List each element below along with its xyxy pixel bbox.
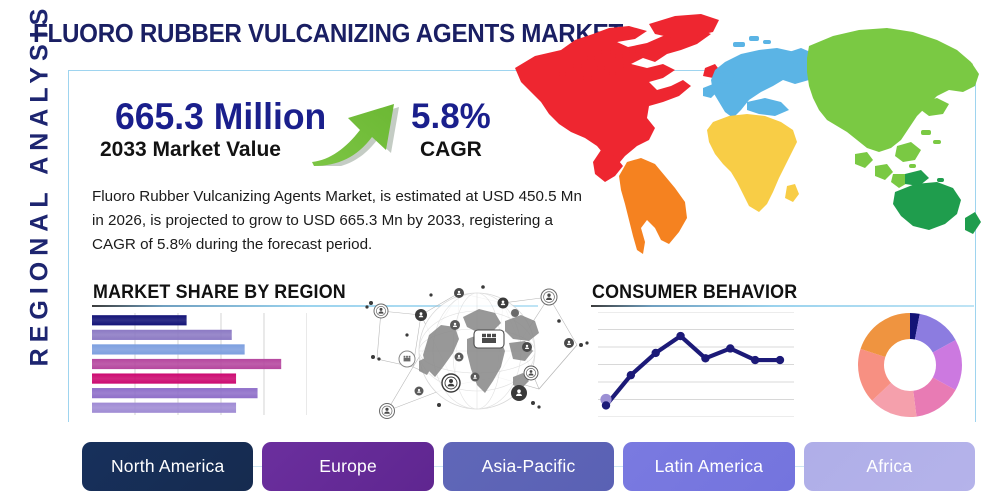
bar-chart-bar — [92, 388, 258, 398]
consumer-behavior-line-chart — [598, 312, 794, 417]
line-chart-title: CONSUMER BEHAVIOR — [592, 282, 797, 304]
line-chart-point — [701, 354, 709, 362]
region-pill[interactable]: Asia-Pacific — [443, 442, 614, 491]
region-pill[interactable]: Latin America — [623, 442, 794, 491]
line-chart-point — [602, 401, 610, 409]
region-pill[interactable]: Europe — [262, 442, 433, 491]
pill-connector — [253, 466, 262, 468]
global-network-globe-icon — [363, 281, 591, 419]
bar-chart-bar — [92, 344, 245, 354]
line-chart-point — [627, 371, 635, 379]
regional-analysis-side-label: REGIONAL ANALYSIS — [26, 0, 55, 385]
line-chart-point — [652, 349, 660, 357]
line-chart-point — [751, 356, 759, 364]
line-chart-point — [726, 344, 734, 352]
cagr-label: CAGR — [420, 138, 482, 162]
segment-donut-chart — [856, 311, 964, 419]
region-pill[interactable]: North America — [82, 442, 253, 491]
bar-chart-bar — [92, 330, 232, 340]
region-pill[interactable]: Africa — [804, 442, 975, 491]
donut-segment — [861, 313, 910, 357]
cagr-figure: 5.8% — [411, 97, 491, 137]
market-value-figure: 665.3 Million — [115, 96, 326, 138]
bar-chart-title: MARKET SHARE BY REGION — [93, 282, 346, 304]
bar-chart-bar — [92, 359, 281, 369]
line-chart-point — [676, 332, 684, 340]
growth-arrow-icon — [308, 78, 408, 166]
world-map-icon — [497, 6, 992, 274]
line-chart-title-rule — [591, 305, 974, 307]
infographic-canvas: REGIONAL ANALYSIS FLUORO RUBBER VULCANIZ… — [0, 0, 1000, 500]
pill-connector — [614, 466, 623, 468]
bar-chart-bar — [92, 403, 236, 413]
pill-connector — [795, 466, 804, 468]
line-chart-point — [776, 356, 784, 364]
pill-connector — [434, 466, 443, 468]
market-value-label: 2033 Market Value — [100, 138, 281, 162]
bar-chart-bar — [92, 373, 236, 383]
region-pill-bar: North AmericaEuropeAsia-PacificLatin Ame… — [82, 442, 975, 491]
market-share-bar-chart — [92, 313, 307, 415]
bar-chart-bar — [92, 315, 187, 325]
